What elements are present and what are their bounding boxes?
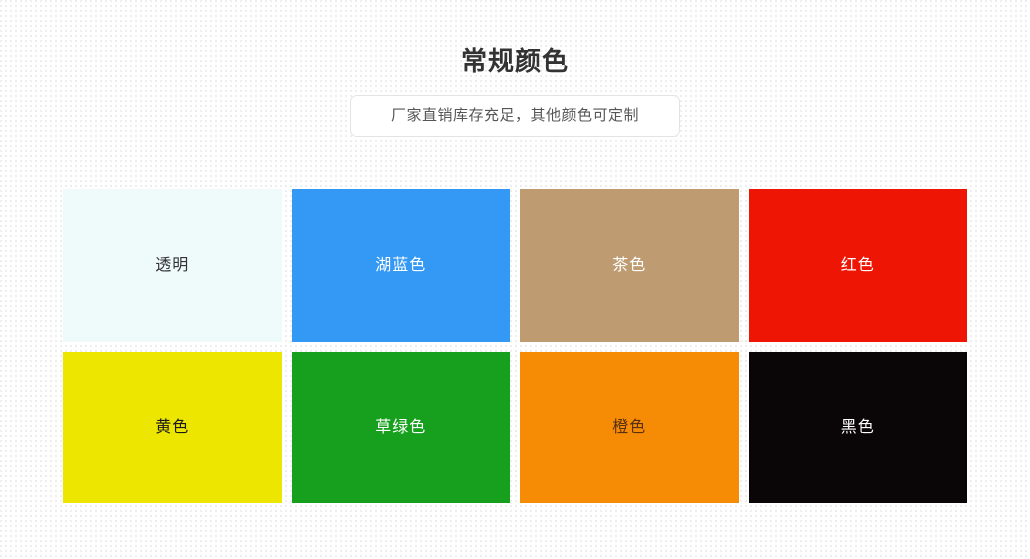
color-swatch-tan[interactable]: 茶色 — [520, 189, 739, 342]
color-swatch-transparent[interactable]: 透明 — [63, 189, 282, 342]
page-title: 常规颜色 — [0, 44, 1030, 78]
color-swatch-grass-green[interactable]: 草绿色 — [292, 352, 511, 503]
color-swatch-grid: 透明 湖蓝色 茶色 红色 黄色 草绿色 橙色 黑色 — [63, 189, 967, 505]
color-swatch-label: 湖蓝色 — [375, 255, 426, 277]
subtitle-container: 厂家直销库存充足，其他颜色可定制 — [0, 95, 1030, 137]
color-swatch-red[interactable]: 红色 — [749, 189, 968, 342]
color-swatch-label: 草绿色 — [375, 417, 426, 439]
color-palette-page: 常规颜色 厂家直销库存充足，其他颜色可定制 透明 湖蓝色 茶色 红色 黄色 草绿… — [0, 0, 1030, 559]
color-swatch-black[interactable]: 黑色 — [749, 352, 968, 503]
color-swatch-lake-blue[interactable]: 湖蓝色 — [292, 189, 511, 342]
color-swatch-label: 透明 — [155, 255, 189, 277]
color-swatch-label: 黑色 — [841, 417, 875, 439]
color-swatch-yellow[interactable]: 黄色 — [63, 352, 282, 503]
color-swatch-label: 黄色 — [155, 417, 189, 439]
color-swatch-label: 红色 — [841, 255, 875, 277]
color-swatch-label: 茶色 — [612, 255, 646, 277]
page-header: 常规颜色 厂家直销库存充足，其他颜色可定制 — [0, 0, 1030, 137]
color-swatch-orange[interactable]: 橙色 — [520, 352, 739, 503]
color-swatch-label: 橙色 — [612, 417, 646, 439]
subtitle-badge: 厂家直销库存充足，其他颜色可定制 — [350, 95, 680, 137]
